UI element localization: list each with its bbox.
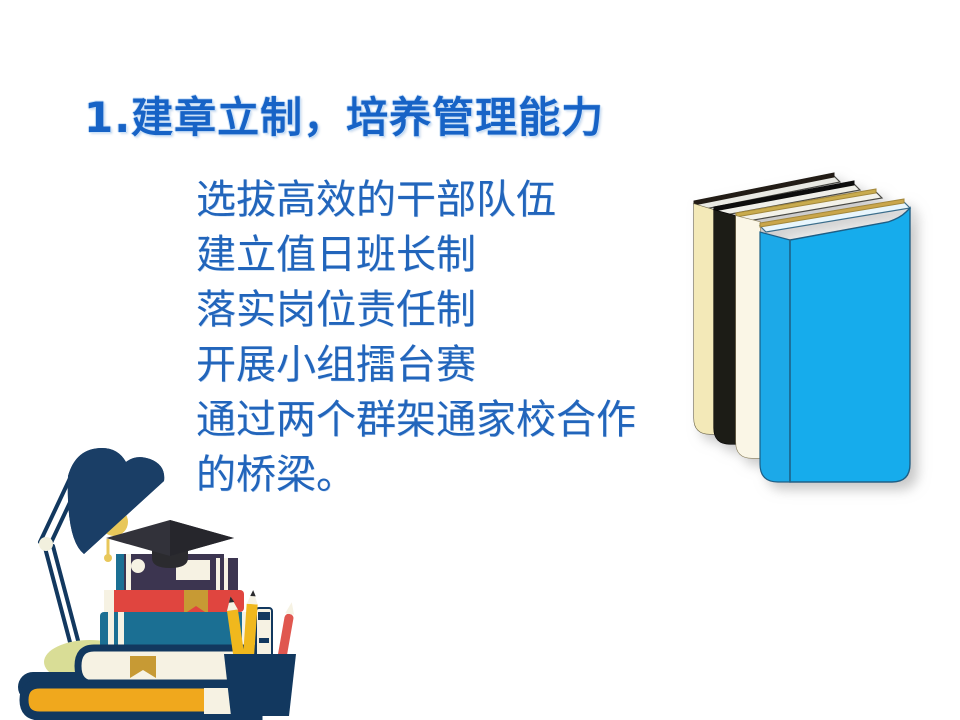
body-line-3: 落实岗位责任制 xyxy=(196,282,666,337)
page-title: 1.建章立制，培养管理能力 xyxy=(84,92,604,144)
book-pile-icon xyxy=(24,554,258,716)
body-line-1: 选拔高效的干部队伍 xyxy=(196,172,666,227)
book-blue xyxy=(760,199,910,482)
body-line-4: 开展小组擂台赛 xyxy=(196,337,666,392)
body-line-5: 通过两个群架通家校合作的桥梁。 xyxy=(196,392,666,502)
pencil-cup-icon xyxy=(224,590,296,716)
slide-canvas: 1.建章立制，培养管理能力 选拔高效的干部队伍 建立值日班长制 落实岗位责任制 … xyxy=(0,0,960,720)
cup-body xyxy=(224,654,296,716)
red-book xyxy=(104,590,244,612)
body-text-block: 选拔高效的干部队伍 建立值日班长制 落实岗位责任制 开展小组擂台赛 通过两个群架… xyxy=(196,172,666,502)
body-line-2: 建立值日班长制 xyxy=(196,227,666,282)
four-standing-books-illustration xyxy=(668,160,958,520)
